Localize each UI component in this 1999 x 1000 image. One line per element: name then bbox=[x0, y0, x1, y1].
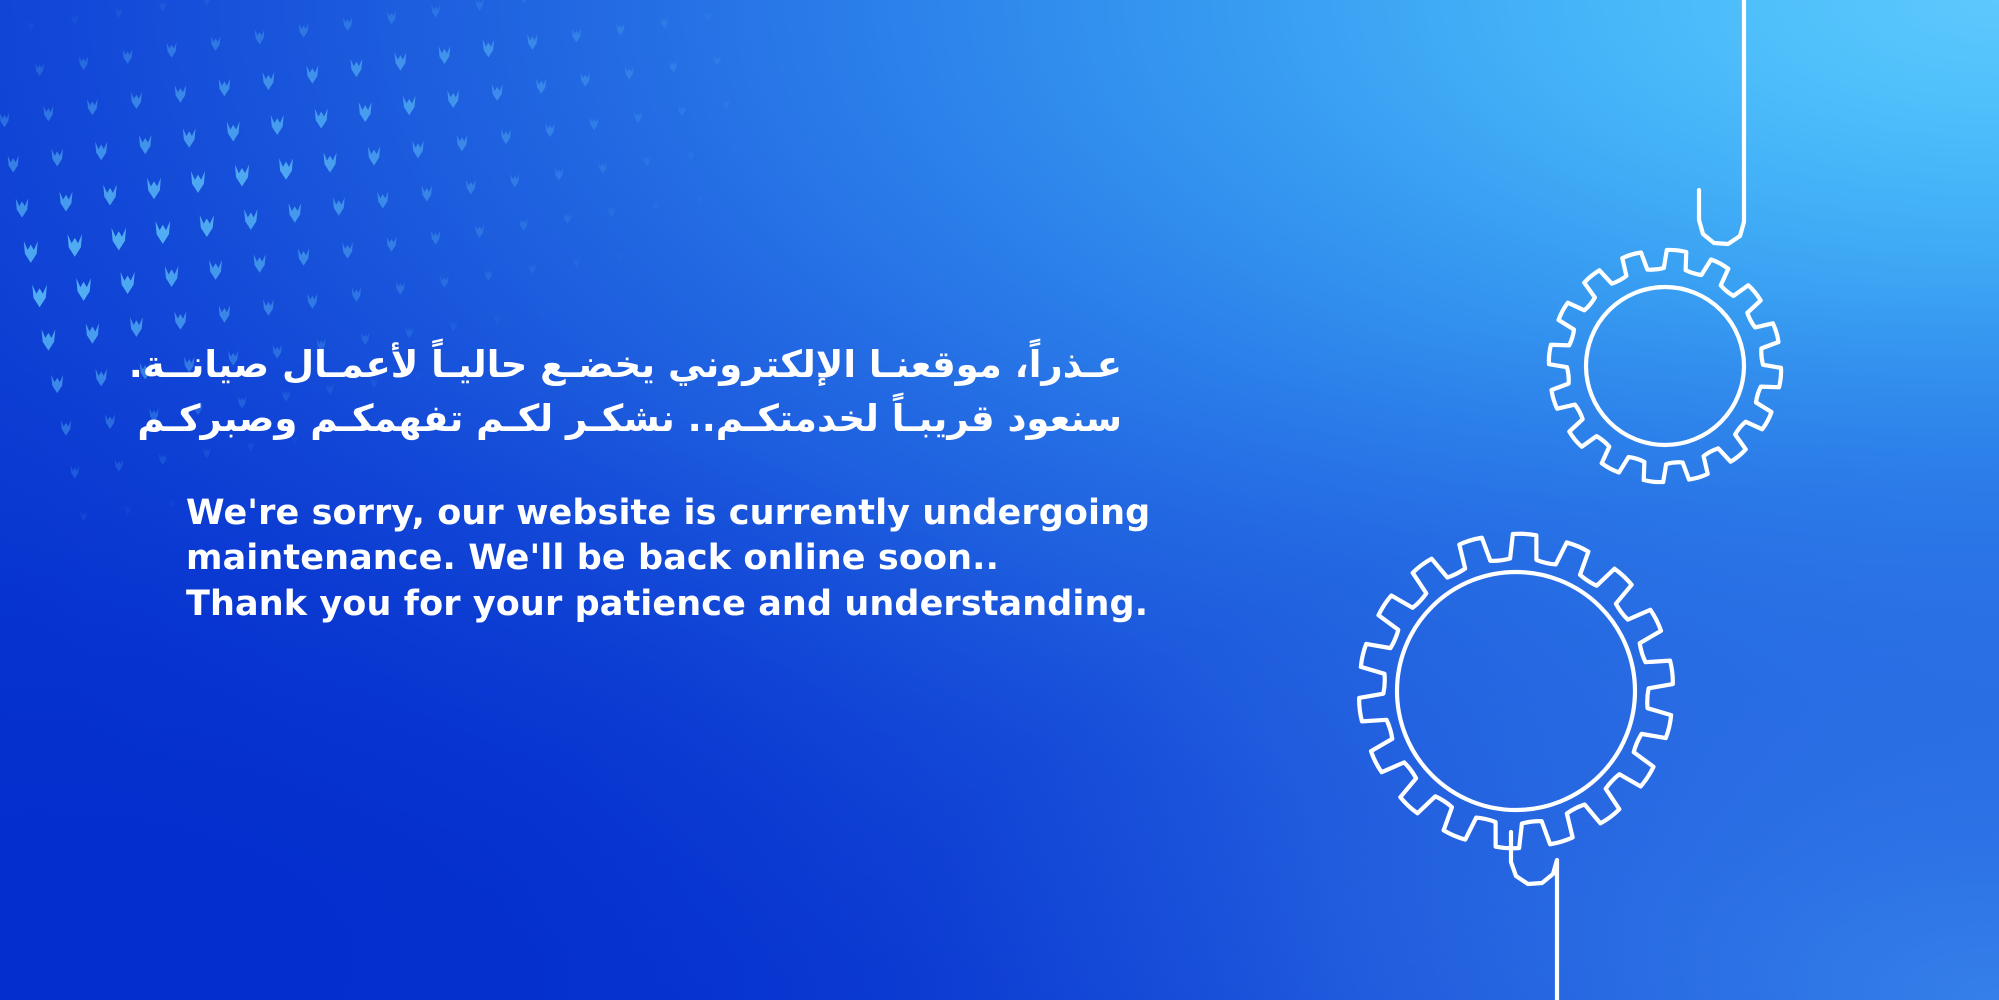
english-message: We're sorry, our website is currently un… bbox=[186, 491, 1136, 628]
maintenance-page: عـذراً، موقعنـا الإلكتروني يخضـع حاليـاً… bbox=[0, 0, 1999, 1000]
english-message-line-3: Thank you for your patience and understa… bbox=[186, 582, 1136, 628]
english-message-line-1: We're sorry, our website is currently un… bbox=[186, 491, 1136, 537]
maintenance-message-block: عـذراً، موقعنـا الإلكتروني يخضـع حاليـاً… bbox=[186, 338, 1136, 627]
arabic-message-line-2: سنعود قريبـاً لخدمتكـم.. نشكـر لكـم تفهم… bbox=[186, 392, 1122, 446]
arabic-message-line-1: عـذراً، موقعنـا الإلكتروني يخضـع حاليـاً… bbox=[186, 338, 1122, 392]
english-message-line-2: maintenance. We'll be back online soon.. bbox=[186, 536, 1136, 582]
arabic-message: عـذراً، موقعنـا الإلكتروني يخضـع حاليـاً… bbox=[186, 338, 1122, 447]
